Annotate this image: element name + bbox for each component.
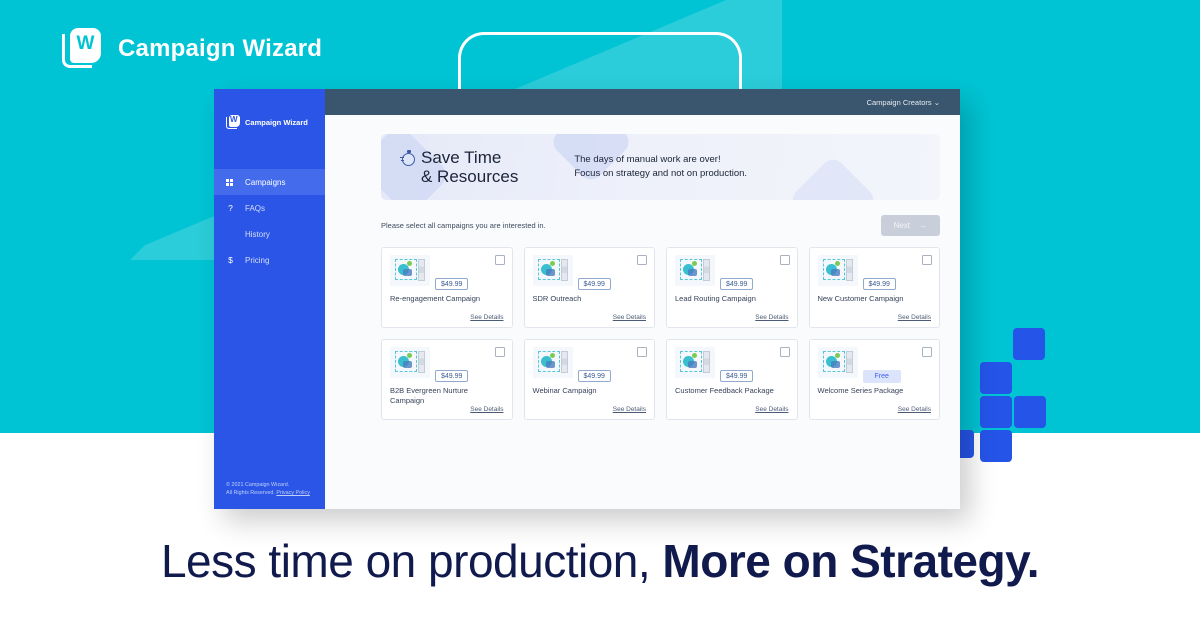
app-content: Save Time & Resources The days of manual… — [325, 115, 960, 420]
campaign-card[interactable]: FreeWelcome Series PackageSee Details — [809, 339, 941, 420]
campaign-checkbox[interactable] — [637, 347, 647, 357]
app-topbar: Campaign Creators ⌄ — [325, 89, 960, 115]
selection-instruction: Please select all campaigns you are inte… — [381, 221, 546, 230]
campaign-checkbox[interactable] — [780, 255, 790, 265]
campaign-checkbox[interactable] — [495, 255, 505, 265]
campaign-checkbox[interactable] — [922, 347, 932, 357]
price-badge: $49.99 — [578, 278, 611, 290]
sidebar-item-history[interactable]: History — [214, 221, 325, 247]
campaign-title: New Customer Campaign — [818, 294, 932, 304]
grid-icon — [226, 179, 235, 186]
decorative-square — [1014, 396, 1046, 428]
decorative-square — [980, 396, 1012, 428]
privacy-policy-link[interactable]: Privacy Policy — [276, 490, 310, 496]
see-details-link[interactable]: See Details — [898, 406, 931, 413]
stopwatch-icon — [400, 150, 417, 167]
book-w-logo-icon: W — [62, 28, 104, 70]
campaign-title: Customer Feedback Package — [675, 386, 789, 396]
campaign-checkbox[interactable] — [637, 255, 647, 265]
next-button[interactable]: Next → — [881, 215, 940, 236]
poster-canvas: W Campaign Wizard W Campaign Wizard Camp… — [0, 0, 1200, 630]
sidebar-footer: © 2021 Campaign Wizard. All Rights Reser… — [214, 481, 325, 509]
see-details-link[interactable]: See Details — [755, 314, 788, 321]
see-details-link[interactable]: See Details — [755, 406, 788, 413]
see-details-link[interactable]: See Details — [470, 406, 503, 413]
see-details-link[interactable]: See Details — [898, 314, 931, 321]
campaign-title: Welcome Series Package — [818, 386, 932, 396]
sidebar-item-faqs[interactable]: ? FAQs — [214, 195, 325, 221]
new-user-icon — [818, 255, 858, 286]
sidebar-nav: Campaigns ? FAQs History $ Pricing — [214, 169, 325, 273]
rights-text: All Rights Reserved. — [226, 490, 275, 496]
sidebar-brand: W Campaign Wizard — [214, 89, 325, 137]
monitor-presentation-icon — [533, 347, 573, 378]
price-badge: $49.99 — [720, 278, 753, 290]
sidebar-brand-label: Campaign Wizard — [245, 118, 308, 127]
hero-subtext: The days of manual work are over! Focus … — [574, 153, 747, 181]
headline-bold: More on Strategy. — [662, 535, 1039, 587]
headset-bulb-icon — [533, 255, 573, 286]
hero-title: Save Time & Resources — [421, 148, 518, 186]
campaign-card-grid: $49.99Re-engagement CampaignSee Details$… — [381, 247, 940, 420]
campaign-checkbox[interactable] — [495, 347, 505, 357]
app-sidebar: W Campaign Wizard Campaigns ? FAQs Histo… — [214, 89, 325, 509]
campaign-checkbox[interactable] — [922, 255, 932, 265]
campaign-card[interactable]: $49.99B2B Evergreen Nurture CampaignSee … — [381, 339, 513, 420]
see-details-link[interactable]: See Details — [470, 314, 503, 321]
app-main: Campaign Creators ⌄ Save Time & Resource… — [325, 89, 960, 509]
campaign-title: B2B Evergreen Nurture Campaign — [390, 386, 504, 406]
decorative-square — [980, 430, 1012, 462]
sidebar-item-label: History — [245, 230, 270, 239]
price-badge: Free — [863, 370, 901, 383]
campaign-card[interactable]: $49.99Webinar CampaignSee Details — [524, 339, 656, 420]
copyright-text: © 2021 Campaign Wizard. — [226, 481, 325, 489]
selection-instruction-row: Please select all campaigns you are inte… — [381, 215, 940, 236]
hero-line-2: Focus on strategy and not on production. — [574, 167, 747, 181]
campaign-title: SDR Outreach — [533, 294, 647, 304]
campaign-card[interactable]: $49.99SDR OutreachSee Details — [524, 247, 656, 328]
flow-route-icon — [675, 255, 715, 286]
sidebar-item-label: FAQs — [245, 204, 265, 213]
app-window-screenshot: W Campaign Wizard Campaigns ? FAQs Histo… — [214, 89, 960, 509]
chevron-down-icon: ⌄ — [934, 98, 940, 107]
campaign-card[interactable]: $49.99New Customer CampaignSee Details — [809, 247, 941, 328]
campaign-card[interactable]: $49.99Lead Routing CampaignSee Details — [666, 247, 798, 328]
decorative-square — [980, 362, 1012, 394]
logo-letter: W — [75, 33, 96, 57]
dollar-sign-icon: $ — [226, 256, 235, 265]
decorative-square — [1013, 328, 1045, 360]
price-badge: $49.99 — [435, 370, 468, 382]
brand-lockup: W Campaign Wizard — [62, 28, 322, 70]
campaign-title: Re-engagement Campaign — [390, 294, 504, 304]
see-details-link[interactable]: See Details — [613, 406, 646, 413]
poster-headline: Less time on production, More on Strateg… — [0, 534, 1200, 588]
brand-name: Campaign Wizard — [118, 35, 322, 63]
hero-title-group: Save Time & Resources — [381, 148, 518, 186]
price-badge: $49.99 — [720, 370, 753, 382]
sidebar-item-label: Campaigns — [245, 178, 285, 187]
sidebar-logo-icon: W — [226, 115, 241, 130]
sidebar-logo-letter: W — [230, 115, 238, 124]
price-badge: $49.99 — [578, 370, 611, 382]
arrow-right-icon: → — [919, 221, 927, 230]
campaign-checkbox[interactable] — [780, 347, 790, 357]
campaign-title: Lead Routing Campaign — [675, 294, 789, 304]
price-badge: $49.99 — [863, 278, 896, 290]
sidebar-item-pricing[interactable]: $ Pricing — [214, 247, 325, 273]
user-menu-dropdown[interactable]: Campaign Creators ⌄ — [867, 98, 940, 107]
hero-banner: Save Time & Resources The days of manual… — [381, 134, 940, 200]
next-button-label: Next — [894, 221, 910, 230]
question-mark-icon: ? — [226, 204, 235, 213]
campaign-card[interactable]: $49.99Customer Feedback PackageSee Detai… — [666, 339, 798, 420]
sidebar-item-label: Pricing — [245, 256, 269, 265]
see-details-link[interactable]: See Details — [613, 314, 646, 321]
headline-light: Less time on production, — [161, 535, 650, 587]
sidebar-item-campaigns[interactable]: Campaigns — [214, 169, 325, 195]
feedback-bubble-icon — [675, 347, 715, 378]
campaign-title: Webinar Campaign — [533, 386, 647, 396]
envelope-refresh-icon — [390, 255, 430, 286]
gear-plant-icon — [390, 347, 430, 378]
price-badge: $49.99 — [435, 278, 468, 290]
user-menu-label: Campaign Creators — [867, 98, 932, 107]
welcome-mail-icon — [818, 347, 858, 378]
hero-line-1: The days of manual work are over! — [574, 153, 747, 167]
campaign-card[interactable]: $49.99Re-engagement CampaignSee Details — [381, 247, 513, 328]
